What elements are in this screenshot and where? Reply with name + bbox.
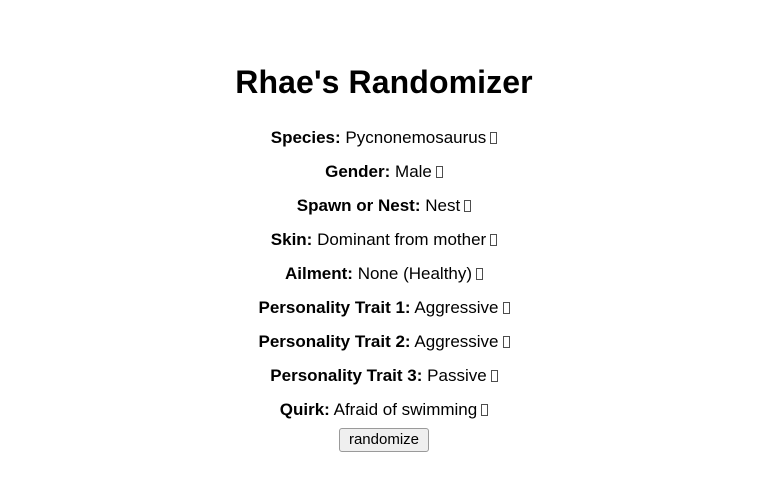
field-row-gender: Gender: Male [0, 155, 768, 189]
field-label-species: Species: [271, 128, 341, 147]
missing-glyph-icon [436, 166, 443, 178]
missing-glyph-icon [490, 234, 497, 246]
missing-glyph-icon [464, 200, 471, 212]
field-value-species: Pycnonemosaurus [345, 128, 486, 147]
field-value-skin: Dominant from mother [317, 230, 486, 249]
page-title: Rhae's Randomizer [0, 66, 768, 98]
missing-glyph-icon [481, 404, 488, 416]
field-value-quirk: Afraid of swimming [334, 400, 478, 419]
field-value-personality-trait-2: Aggressive [414, 332, 498, 351]
field-row-skin: Skin: Dominant from mother [0, 223, 768, 257]
field-row-spawn-or-nest: Spawn or Nest: Nest [0, 189, 768, 223]
field-label-skin: Skin: [271, 230, 313, 249]
missing-glyph-icon [491, 370, 498, 382]
missing-glyph-icon [503, 302, 510, 314]
field-label-gender: Gender: [325, 162, 390, 181]
field-label-quirk: Quirk: [280, 400, 330, 419]
field-value-personality-trait-3: Passive [427, 366, 487, 385]
field-value-gender: Male [395, 162, 432, 181]
randomizer-page: Rhae's Randomizer Species: Pycnonemosaur… [0, 0, 768, 480]
field-row-personality-trait-2: Personality Trait 2: Aggressive [0, 325, 768, 359]
field-label-personality-trait-2: Personality Trait 2: [258, 332, 410, 351]
field-value-personality-trait-1: Aggressive [414, 298, 498, 317]
field-row-quirk: Quirk: Afraid of swimming [0, 393, 768, 427]
field-label-ailment: Ailment: [285, 264, 353, 283]
button-row: randomize [0, 428, 768, 452]
randomize-button[interactable]: randomize [339, 428, 429, 452]
field-row-ailment: Ailment: None (Healthy) [0, 257, 768, 291]
field-value-ailment: None (Healthy) [358, 264, 472, 283]
missing-glyph-icon [476, 268, 483, 280]
field-row-species: Species: Pycnonemosaurus [0, 121, 768, 155]
field-value-spawn-or-nest: Nest [425, 196, 460, 215]
fields-list: Species: Pycnonemosaurus Gender: Male Sp… [0, 121, 768, 427]
field-row-personality-trait-1: Personality Trait 1: Aggressive [0, 291, 768, 325]
missing-glyph-icon [490, 132, 497, 144]
field-label-spawn-or-nest: Spawn or Nest: [297, 196, 421, 215]
field-label-personality-trait-3: Personality Trait 3: [270, 366, 422, 385]
field-row-personality-trait-3: Personality Trait 3: Passive [0, 359, 768, 393]
missing-glyph-icon [503, 336, 510, 348]
field-label-personality-trait-1: Personality Trait 1: [258, 298, 410, 317]
